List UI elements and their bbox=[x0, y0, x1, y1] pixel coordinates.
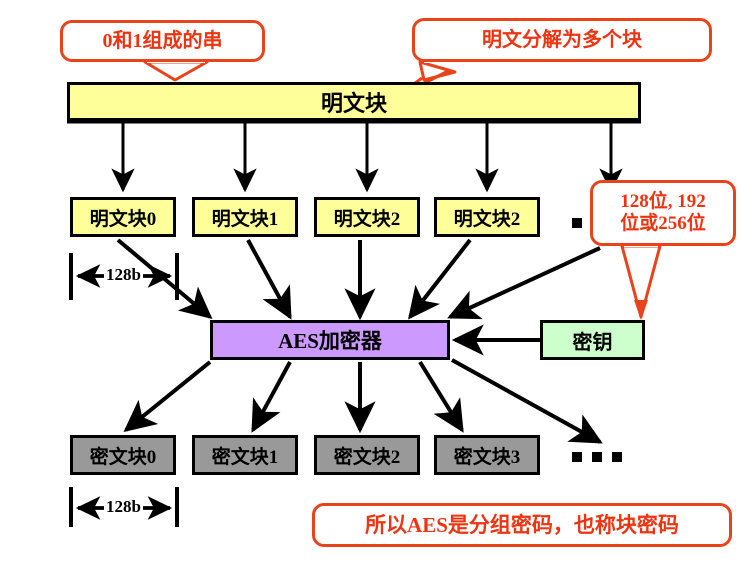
plaintext-block-2: 明文块2 bbox=[314, 197, 420, 237]
cipher-block-3: 密文块3 bbox=[434, 435, 540, 475]
ellipsis-dot bbox=[592, 452, 602, 462]
plaintext-stream-box: 明文块 bbox=[67, 82, 641, 121]
ciphertext-ellipsis-icon bbox=[572, 452, 622, 462]
ciphertext-width-label: 128b bbox=[104, 497, 143, 517]
diagram-canvas: 明文块 明文块0 明文块1 明文块2 明文块2 AES加密器 密钥 密文块0 密… bbox=[0, 0, 744, 562]
cipher-block-1: 密文块1 bbox=[192, 435, 298, 475]
callout-split-into-blocks: 明文分解为多个块 bbox=[412, 18, 712, 62]
ellipsis-dot bbox=[572, 452, 582, 462]
plaintext-block-3: 明文块2 bbox=[434, 197, 540, 237]
aes-encryptor-box: AES加密器 bbox=[210, 320, 450, 360]
plaintext-block-0: 明文块0 bbox=[70, 197, 176, 237]
ellipsis-dot bbox=[612, 452, 622, 462]
cipher-block-0: 密文块0 bbox=[70, 435, 176, 475]
callout-binary-string: 0和1组成的串 bbox=[60, 20, 265, 62]
plaintext-width-label: 128b bbox=[104, 265, 143, 285]
callout-key-size-line1: 128位, 192 bbox=[620, 191, 706, 212]
callout-key-size: 128位, 192 位或256位 bbox=[590, 180, 736, 246]
ellipsis-dot bbox=[572, 218, 582, 228]
plaintext-block-1: 明文块1 bbox=[192, 197, 298, 237]
cipher-block-2: 密文块2 bbox=[314, 435, 420, 475]
callout-block-cipher-conclusion: 所以AES是分组密码，也称块密码 bbox=[312, 503, 732, 547]
callout-key-size-line2: 位或256位 bbox=[620, 213, 706, 234]
secret-key-box: 密钥 bbox=[540, 320, 645, 360]
